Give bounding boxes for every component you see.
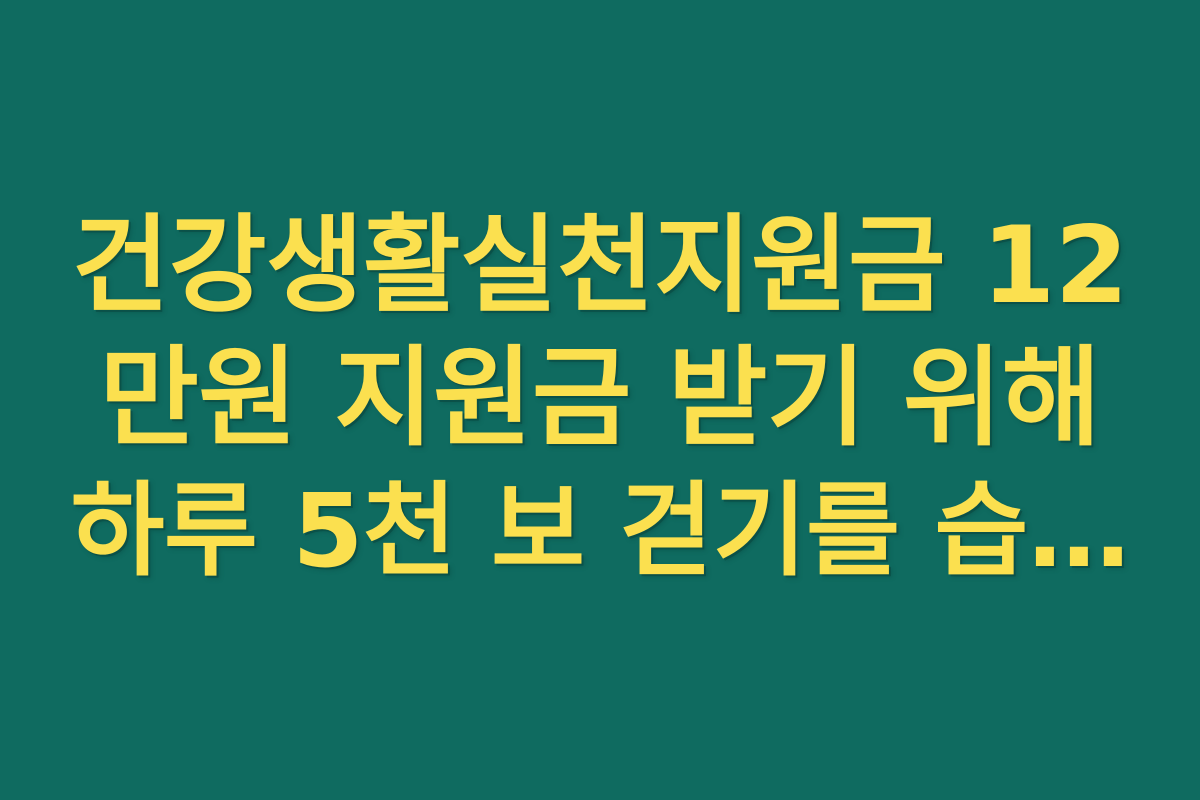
thumbnail-card: 건강생활실천지원금 12 만원 지원금 받기 위해 하루 5천 보 걷기를 습… (0, 0, 1200, 800)
headline-line-3: 하루 5천 보 걷기를 습… (70, 465, 1130, 598)
headline-block: 건강생활실천지원금 12 만원 지원금 받기 위해 하루 5천 보 걷기를 습… (70, 199, 1130, 602)
headline-line-1: 건강생활실천지원금 12 (70, 199, 1130, 332)
headline-line-2: 만원 지원금 받기 위해 (70, 332, 1130, 465)
